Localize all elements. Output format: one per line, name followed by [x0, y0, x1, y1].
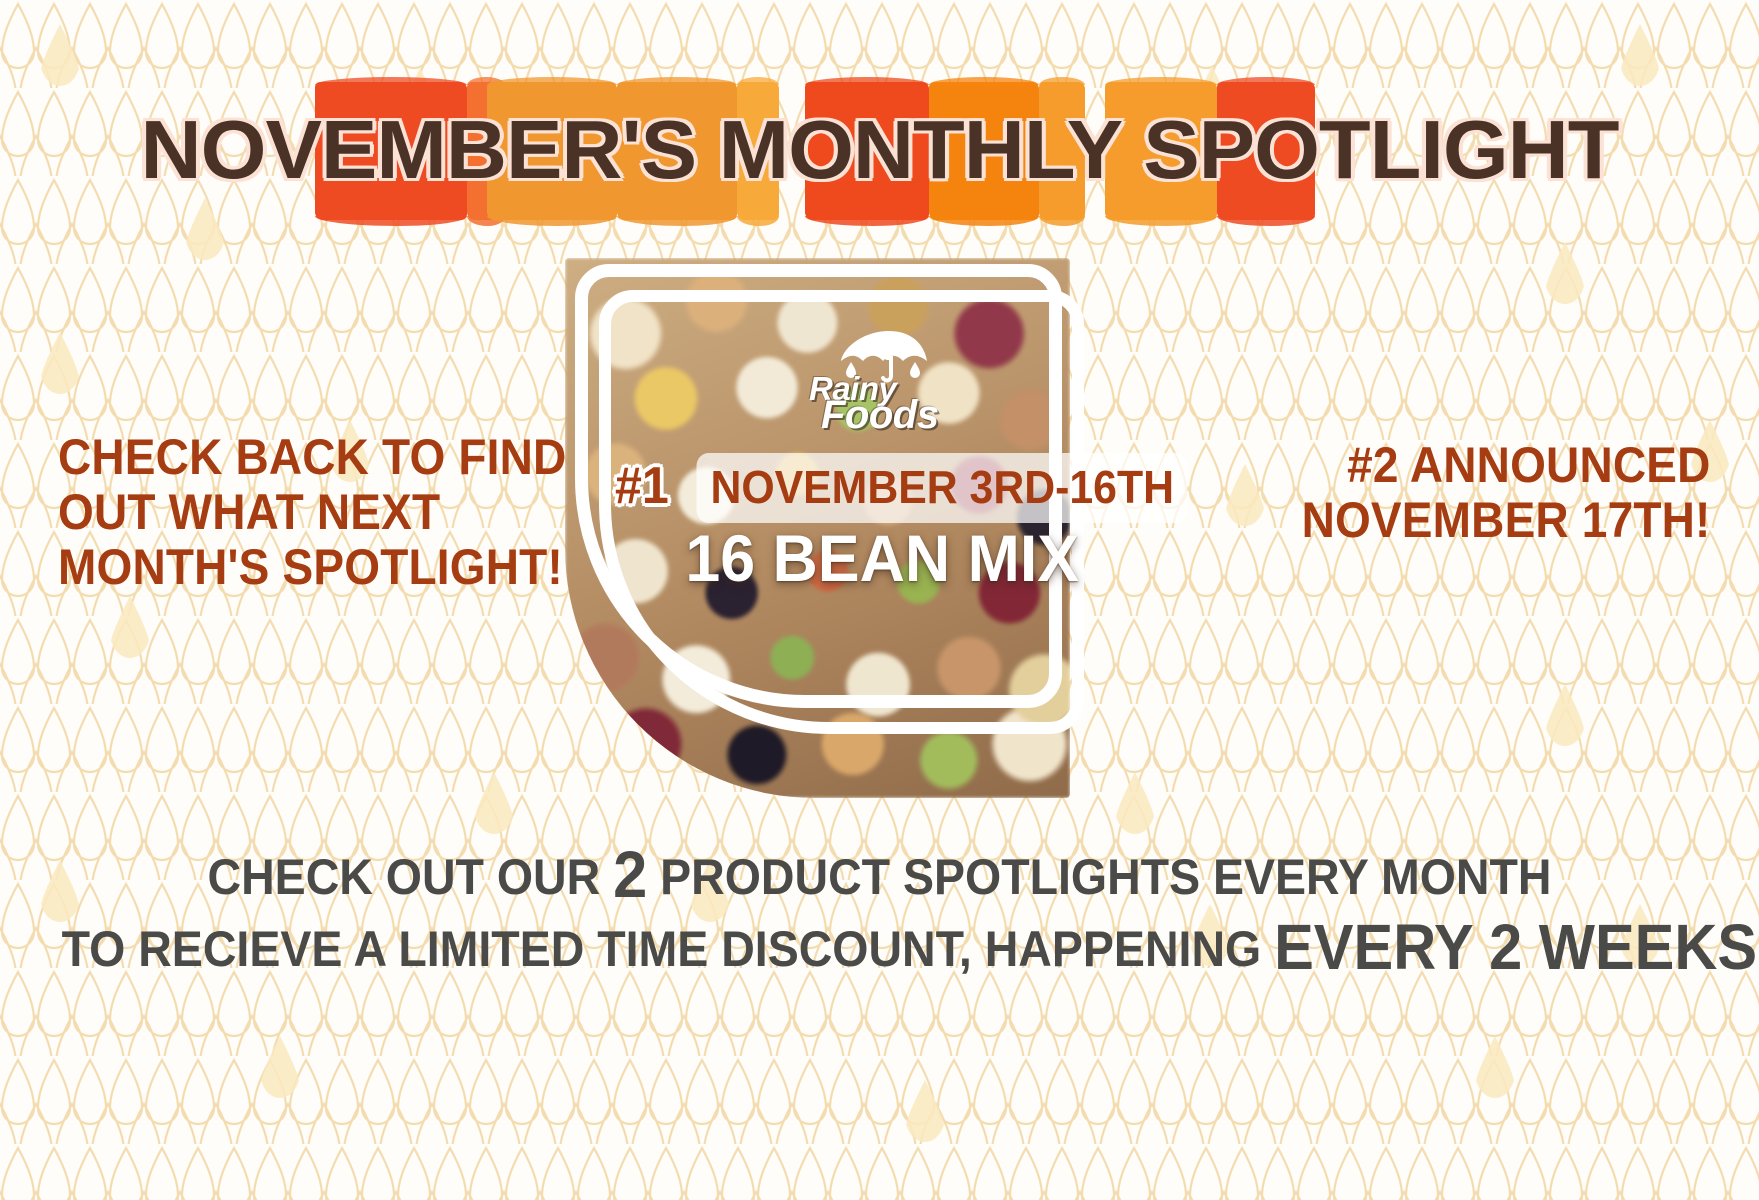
accent-drop [1545, 684, 1585, 746]
accent-drop [260, 1036, 300, 1098]
bottom-line-2-part-a: TO RECIEVE A LIMITED TIME DISCOUNT, HAPP… [62, 921, 1275, 977]
accent-drop [110, 596, 150, 658]
spotlight-rank-badge: #1 [615, 456, 669, 516]
left-message-line-2: OUT WHAT NEXT [58, 485, 566, 540]
accent-drop [905, 1080, 945, 1142]
left-message-line-1: CHECK BACK TO FIND [58, 430, 566, 485]
spotlight-count: 2 [613, 837, 647, 911]
left-message: CHECK BACK TO FIND OUT WHAT NEXT MONTH'S… [58, 430, 566, 595]
accent-drop [1475, 1036, 1515, 1098]
left-message-line-3: MONTH'S SPOTLIGHT! [58, 540, 566, 595]
right-message-line-2: NOVEMBER 17TH! [1302, 493, 1711, 548]
promo-date-range: NOVEMBER 3RD-16TH [701, 458, 1183, 518]
rainy-day-foods-logo: Rainy Foods [805, 330, 951, 436]
accent-drop [40, 332, 80, 394]
page-title: NOVEMBER'S MONTHLY SPOTLIGHT [141, 102, 1619, 198]
accent-drop [1115, 772, 1155, 834]
right-message-line-1: #2 ANNOUNCED [1302, 438, 1711, 493]
accent-drop [474, 772, 514, 834]
bottom-message-line-2: TO RECIEVE A LIMITED TIME DISCOUNT, HAPP… [62, 912, 1698, 984]
right-message: #2 ANNOUNCED NOVEMBER 17TH! [1302, 438, 1711, 548]
bottom-message-line-1: CHECK OUT OUR 2 PRODUCT SPOTLIGHTS EVERY… [62, 838, 1698, 912]
bottom-message: CHECK OUT OUR 2 PRODUCT SPOTLIGHTS EVERY… [62, 838, 1698, 984]
header-banner: NOVEMBER'S MONTHLY SPOTLIGHT [0, 70, 1759, 230]
product-name: 16 BEAN MIX [685, 520, 1079, 596]
accent-drop [1545, 242, 1585, 304]
logo-word-foods: Foods [821, 393, 938, 438]
frequency-emphasis: EVERY 2 WEEKS! [1274, 911, 1759, 983]
accent-drop [1225, 464, 1265, 526]
promo-date-strip: #1 NOVEMBER 3RD-16TH [613, 456, 1201, 518]
product-spotlight-card[interactable]: Rainy Foods #1 NOVEMBER 3RD-16TH 16 BEAN… [565, 258, 1070, 798]
bottom-line-1-part-a: CHECK OUT OUR [208, 849, 614, 905]
bottom-line-1-part-b: PRODUCT SPOTLIGHTS EVERY MONTH [647, 849, 1551, 905]
